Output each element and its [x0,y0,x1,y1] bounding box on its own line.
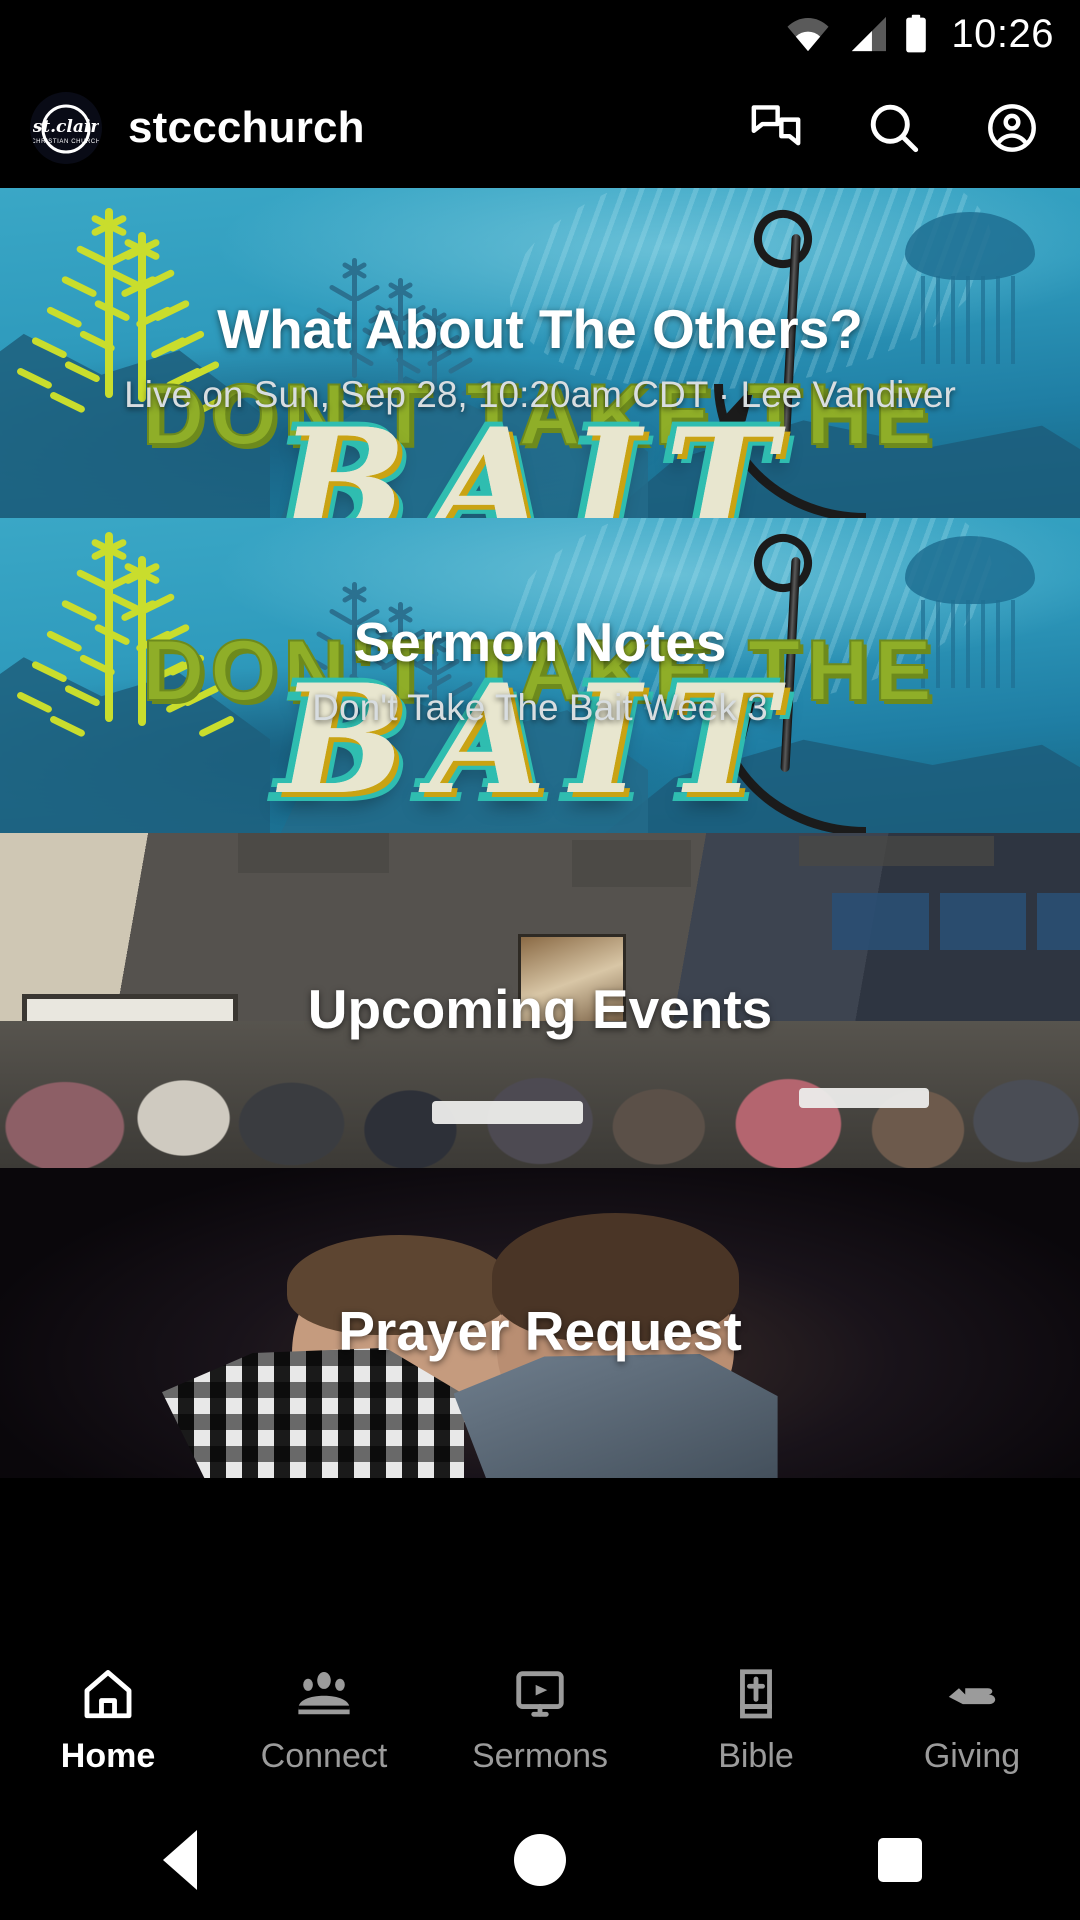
content-feed[interactable]: DON'T TAKE THE BAIT What About The Other… [0,188,1080,1640]
phone-screen: 10:26 st.clair CHRISTIAN CHURCH stccchur… [0,0,1080,1920]
status-bar: 10:26 [0,0,1080,68]
app-bar-actions [748,100,1050,156]
tab-label: Bible [718,1737,794,1776]
cellular-signal-icon [845,15,889,53]
card-title: Prayer Request [338,1303,742,1361]
home-circle-icon [514,1834,566,1886]
svg-text:st.clair: st.clair [33,117,99,137]
tab-giving[interactable]: Giving [864,1665,1080,1776]
church-logo[interactable]: st.clair CHRISTIAN CHURCH [30,92,102,164]
tab-label: Sermons [472,1737,608,1776]
card-prayer-request[interactable]: Prayer Request [0,1168,1080,1478]
android-system-nav [0,1800,1080,1920]
system-recents-button[interactable] [720,1838,1080,1882]
card-text-overlay: Prayer Request [0,1303,1080,1361]
bible-icon [727,1665,785,1723]
svg-text:CHRISTIAN CHURCH: CHRISTIAN CHURCH [33,139,99,145]
tab-bible[interactable]: Bible [648,1665,864,1776]
tab-sermons[interactable]: Sermons [432,1665,648,1776]
bottom-tab-bar: Home Connect [0,1640,1080,1800]
recents-square-icon [878,1838,922,1882]
tab-home[interactable]: Home [0,1665,216,1776]
card-subtitle: Don't Take The Bait Week 3 [312,687,767,729]
system-home-button[interactable] [360,1834,720,1886]
account-icon[interactable] [984,100,1040,156]
tab-label: Giving [924,1737,1020,1776]
people-icon [295,1665,353,1723]
chat-icon[interactable] [748,100,804,156]
home-icon [79,1665,137,1723]
card-title: Upcoming Events [308,981,773,1039]
wifi-icon [785,15,831,53]
card-sermon-notes[interactable]: DON'T TAKE THE BAIT Sermon Notes Don't T… [0,518,1080,833]
card-upcoming-events[interactable]: Upcoming Events [0,833,1080,1168]
back-triangle-icon [163,1830,197,1890]
app-title: stccchurch [128,103,365,153]
tab-label: Connect [261,1737,388,1776]
tab-label: Home [61,1737,155,1776]
tab-connect[interactable]: Connect [216,1665,432,1776]
system-back-button[interactable] [0,1830,360,1890]
card-title: Sermon Notes [354,614,727,672]
card-text-overlay: What About The Others? Live on Sun, Sep … [0,301,1080,416]
card-subtitle: Live on Sun, Sep 28, 10:20am CDT · Lee V… [124,374,956,416]
app-bar: st.clair CHRISTIAN CHURCH stccchurch [0,68,1080,188]
card-text-overlay: Sermon Notes Don't Take The Bait Week 3 [0,614,1080,729]
card-live-service[interactable]: DON'T TAKE THE BAIT What About The Other… [0,188,1080,518]
battery-icon [903,14,929,54]
search-icon[interactable] [866,100,922,156]
card-text-overlay: Upcoming Events [0,981,1080,1039]
status-bar-clock: 10:26 [951,12,1054,57]
hand-icon [943,1665,1001,1723]
card-title: What About The Others? [217,301,863,359]
video-icon [511,1665,569,1723]
